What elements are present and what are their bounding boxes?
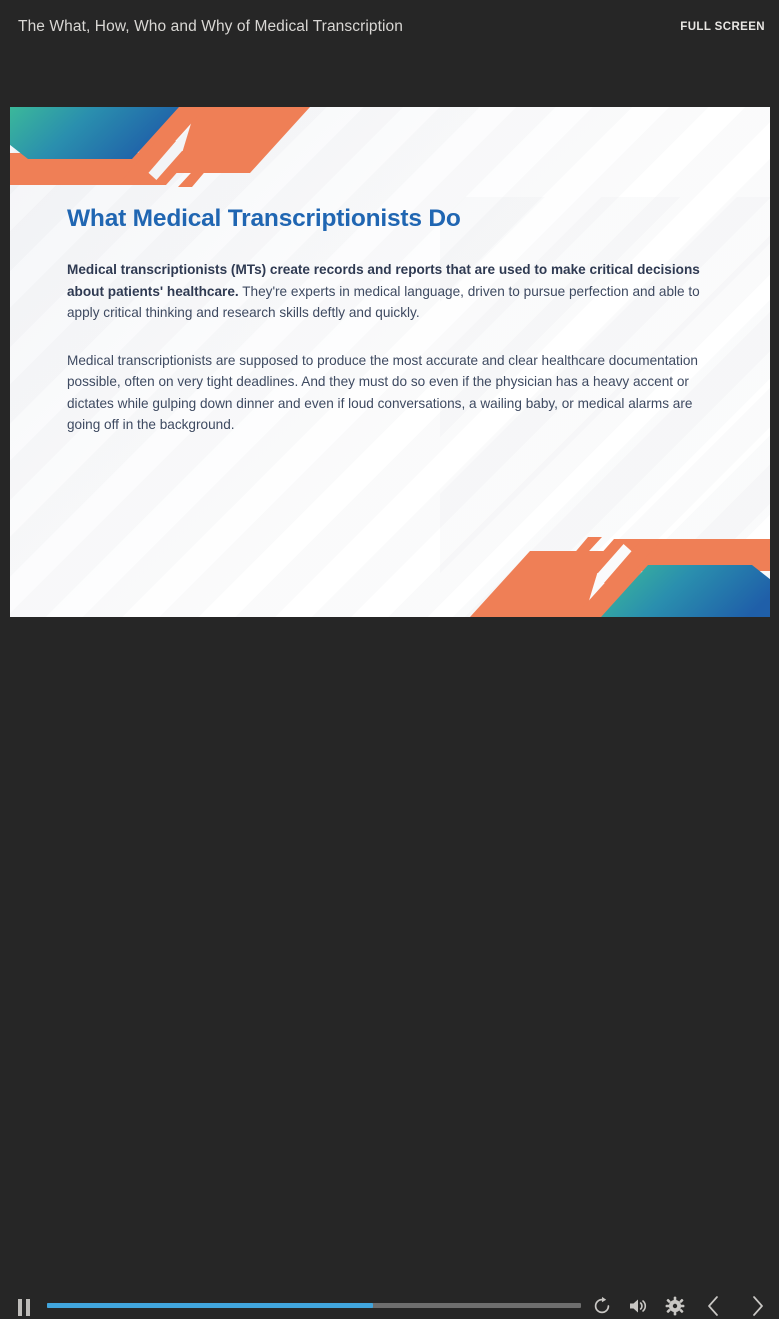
chevron-right-icon <box>748 1294 766 1318</box>
slide-stage: What Medical Transcriptionists Do Medica… <box>10 107 770 617</box>
decoration-top-left <box>10 107 430 202</box>
pause-icon <box>18 1299 22 1316</box>
fullscreen-button[interactable]: FULL SCREEN <box>680 21 765 33</box>
player-header: The What, How, Who and Why of Medical Tr… <box>0 0 779 107</box>
slide-title: What Medical Transcriptionists Do <box>67 205 713 233</box>
chevron-left-icon <box>705 1294 723 1318</box>
slide-content: What Medical Transcriptionists Do Medica… <box>67 205 713 462</box>
previous-slide-button[interactable] <box>702 1293 726 1319</box>
next-slide-button[interactable] <box>745 1293 769 1319</box>
pause-icon-bar2 <box>26 1299 30 1316</box>
pause-button[interactable] <box>12 1295 36 1319</box>
slide-paragraph-2: Medical transcriptionists are supposed t… <box>67 350 713 436</box>
progress-fill <box>47 1303 373 1308</box>
volume-button[interactable] <box>626 1294 652 1318</box>
replay-button[interactable] <box>590 1294 614 1318</box>
gear-icon <box>665 1296 685 1316</box>
settings-button[interactable] <box>662 1294 688 1318</box>
progress-scrubber[interactable] <box>47 1303 581 1308</box>
course-title: The What, How, Who and Why of Medical Tr… <box>18 18 403 36</box>
slide-paragraph-1: Medical transcriptionists (MTs) create r… <box>67 259 713 324</box>
volume-icon <box>628 1296 650 1316</box>
player-control-bar <box>0 617 779 716</box>
decoration-bottom-right <box>350 522 770 617</box>
replay-icon <box>592 1296 612 1316</box>
